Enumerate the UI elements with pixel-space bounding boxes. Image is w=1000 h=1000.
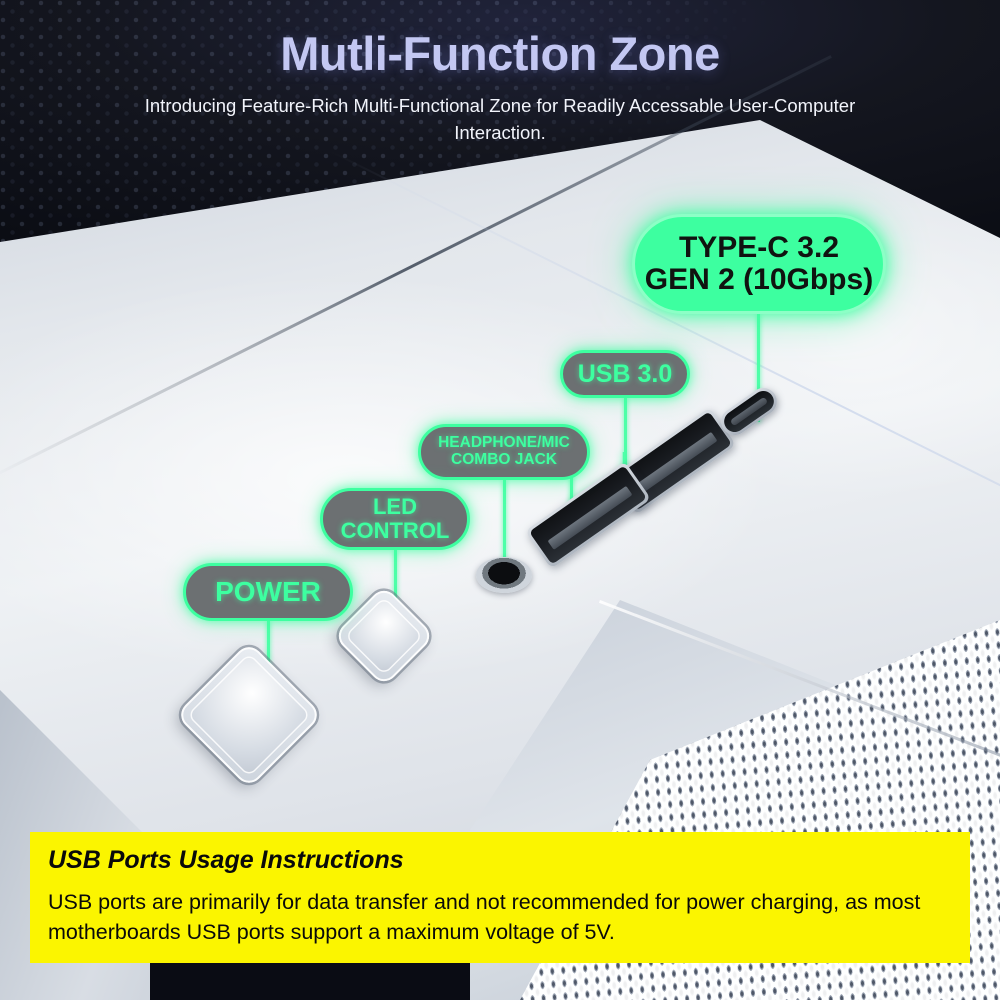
mesh-panel-region xyxy=(0,118,1000,598)
callout-typec-line1: TYPE-C 3.2 xyxy=(645,232,873,264)
page-title: Mutli-Function Zone xyxy=(0,26,1000,81)
callout-usb30[interactable]: USB 3.0 xyxy=(560,350,690,398)
callout-typec[interactable]: TYPE-C 3.2 GEN 2 (10Gbps) xyxy=(632,214,886,314)
infographic-stage: Mutli-Function Zone Introducing Feature-… xyxy=(0,0,1000,1000)
callout-power-label: POWER xyxy=(215,577,321,607)
callout-typec-line2: GEN 2 (10Gbps) xyxy=(645,264,873,296)
leader-line-usb30 xyxy=(624,398,627,470)
callout-jack-line1: HEADPHONE/MIC xyxy=(438,435,570,452)
callout-usb30-label: USB 3.0 xyxy=(578,361,672,388)
headphone-mic-jack[interactable] xyxy=(476,557,532,593)
banner-title: USB Ports Usage Instructions xyxy=(48,846,952,875)
callout-jack-line2: COMBO JACK xyxy=(438,452,570,469)
page-subtitle: Introducing Feature-Rich Multi-Functiona… xyxy=(140,92,860,146)
callout-power[interactable]: POWER xyxy=(183,563,353,621)
callout-headphone-jack[interactable]: HEADPHONE/MIC COMBO JACK xyxy=(418,424,590,480)
banner-body: USB ports are primarily for data transfe… xyxy=(48,887,952,947)
usb-instructions-banner: USB Ports Usage Instructions USB ports a… xyxy=(30,832,970,963)
callout-led-line2: CONTROL xyxy=(341,519,450,543)
callout-led-line1: LED xyxy=(341,495,450,519)
callout-led-control[interactable]: LED CONTROL xyxy=(320,488,470,550)
